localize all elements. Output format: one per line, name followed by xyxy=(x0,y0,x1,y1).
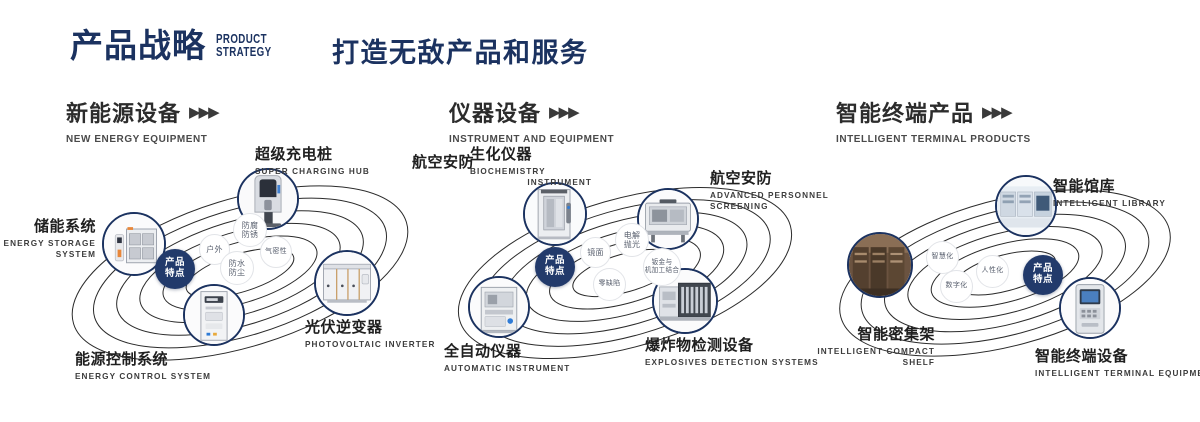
bubble-mirror-finish: 镜面 xyxy=(580,237,611,268)
product-strategy-infographic: 产品战略 PRODUCT STRATEGY 打造无敌产品和服务 新能源设备 ▶▶… xyxy=(0,0,1200,422)
smart-library-icon xyxy=(997,177,1055,235)
label-cn: 智能密集架 xyxy=(810,325,935,344)
bubble-core-features: 产品 特点 xyxy=(155,249,195,289)
section-title-en: NEW ENERGY EQUIPMENT xyxy=(66,133,210,145)
label-cn: 储能系统 xyxy=(0,217,96,236)
bubble-line2: 防尘 xyxy=(229,268,246,277)
node-biochemistry-instrument[interactable] xyxy=(523,182,587,246)
bubble-line1: 气密性 xyxy=(265,248,287,256)
bubble-line1: 户外 xyxy=(206,245,223,254)
bubble-line1: 零缺陷 xyxy=(599,280,621,288)
section-title-text: 智能终端产品 xyxy=(836,96,974,128)
label-en-1: INTELLIGENT TERMINAL EQUIPMENT xyxy=(1035,368,1200,379)
label-en-1: INTELLIGENT COMPACT xyxy=(810,346,935,357)
label-en-1: SUPER CHARGING HUB xyxy=(255,166,395,177)
bubble-intelligent: 智慧化 xyxy=(926,241,959,274)
label-super-charging-hub: 超级充电桩 SUPER CHARGING HUB xyxy=(255,145,395,177)
bubble-line2: 抛光 xyxy=(624,240,641,249)
bubble-digitalized: 数字化 xyxy=(940,270,973,303)
bubble-line1: 镜面 xyxy=(587,248,604,257)
bubble-line1: 电解 xyxy=(624,231,641,240)
bubble-line2: 防锈 xyxy=(242,230,259,239)
section-title-cn: 智能终端产品 ▶▶▶ xyxy=(836,96,1041,128)
label-cn: 超级充电桩 xyxy=(255,145,395,164)
label-cn: 生化仪器 xyxy=(470,145,610,164)
bubble-line1: 人性化 xyxy=(982,267,1004,275)
label-cn: 智能终端设备 xyxy=(1035,347,1200,366)
label-en-1: INTELLIGENT LIBRARY xyxy=(1053,198,1200,209)
section-heading-instrument: 仪器设备 ▶▶▶ INSTRUMENT AND EQUIPMENT xyxy=(449,96,623,145)
bubble-sheetmetal-machining: 钣金与 机加工结合 xyxy=(643,248,681,286)
label-cn: 能源控制系统 xyxy=(75,350,275,369)
label-intelligent-compact-shelf: 智能密集架 INTELLIGENT COMPACT SHELF xyxy=(810,325,935,368)
label-intelligent-library: 智能馆库 INTELLIGENT LIBRARY xyxy=(1053,177,1200,209)
biochemistry-analyzer-icon xyxy=(525,184,585,244)
page-header: 产品战略 PRODUCT STRATEGY xyxy=(70,26,287,66)
bubble-core-features: 产品 特点 xyxy=(535,247,575,287)
page-title-en-line2: STRATEGY xyxy=(216,46,271,59)
bubble-line2: 机加工结合 xyxy=(645,267,679,275)
cluster-new-energy-equipment: 储能系统 ENERGY STORAGE SYSTEM 超级充电桩 SUPER C… xyxy=(40,155,440,370)
node-intelligent-terminal-equipment[interactable] xyxy=(1059,277,1121,339)
bubble-zero-defect: 零缺陷 xyxy=(593,268,626,301)
bubble-waterproof-dustproof: 防水 防尘 xyxy=(220,251,254,285)
label-en-1: AUTOMATIC INSTRUMENT xyxy=(444,363,614,374)
bubble-line1: 防水 xyxy=(229,259,246,268)
bubble-line1: 智慧化 xyxy=(932,253,954,261)
bubble-line1: 数字化 xyxy=(946,282,968,290)
section-title-text: 仪器设备 xyxy=(449,96,541,128)
bubble-line2: 特点 xyxy=(165,269,185,280)
label-en-2: INSTRUMENT xyxy=(470,177,592,188)
label-biochemistry-instrument: 生化仪器 BIOCHEMISTRY INSTRUMENT xyxy=(470,145,610,188)
node-intelligent-compact-shelf[interactable] xyxy=(847,232,913,298)
page-title-en: PRODUCT STRATEGY xyxy=(216,33,271,59)
label-en-2: SHELF xyxy=(810,357,935,368)
node-photovoltaic-inverter[interactable] xyxy=(314,250,380,316)
terminal-kiosk-icon xyxy=(1061,279,1119,337)
section-title-text: 新能源设备 xyxy=(66,96,181,128)
label-en-1: ENERGY STORAGE xyxy=(0,238,96,249)
compact-shelf-icon xyxy=(849,234,911,296)
pv-inverter-icon xyxy=(316,252,378,314)
section-heading-new-energy: 新能源设备 ▶▶▶ NEW ENERGY EQUIPMENT xyxy=(66,96,218,145)
chevron-right-icon: ▶▶▶ xyxy=(189,103,218,121)
bubble-core-features: 产品 特点 xyxy=(1023,255,1063,295)
bubble-electrolytic-polishing: 电解 抛光 xyxy=(615,223,649,257)
chevron-right-icon: ▶▶▶ xyxy=(549,103,578,121)
bubble-line2: 特点 xyxy=(1033,275,1053,286)
label-energy-storage-system: 储能系统 ENERGY STORAGE SYSTEM xyxy=(0,217,96,260)
page-title-cn: 产品战略 xyxy=(70,26,206,66)
section-title-cn: 仪器设备 ▶▶▶ xyxy=(449,96,623,128)
label-intelligent-terminal-equipment: 智能终端设备 INTELLIGENT TERMINAL EQUIPMENT xyxy=(1035,347,1200,379)
bubble-line2: 特点 xyxy=(545,267,565,278)
bubble-humanized: 人性化 xyxy=(976,255,1009,288)
bubble-line1: 钣金与 xyxy=(652,259,673,267)
label-en-1: ENERGY CONTROL SYSTEM xyxy=(75,371,275,382)
label-energy-control-system: 能源控制系统 ENERGY CONTROL SYSTEM xyxy=(75,350,275,382)
label-automatic-instrument: 全自动仪器 AUTOMATIC INSTRUMENT xyxy=(444,342,614,374)
label-cn: 全自动仪器 xyxy=(444,342,614,361)
automatic-instrument-icon xyxy=(470,278,528,336)
section-title-en: INSTRUMENT AND EQUIPMENT xyxy=(449,133,614,145)
section-title-en: INTELLIGENT TERMINAL PRODUCTS xyxy=(836,133,1031,145)
label-en-1: BIOCHEMISTRY xyxy=(470,166,610,177)
bubble-airtightness: 气密性 xyxy=(260,236,292,268)
section-title-cn: 新能源设备 ▶▶▶ xyxy=(66,96,218,128)
section-heading-terminal: 智能终端产品 ▶▶▶ INTELLIGENT TERMINAL PRODUCTS xyxy=(836,96,1041,145)
node-intelligent-library[interactable] xyxy=(995,175,1057,237)
page-subtitle: 打造无敌产品和服务 xyxy=(332,31,589,70)
bubble-line1: 防腐 xyxy=(242,221,259,230)
cluster-instrument-and-equipment: 航空安防 生化仪器 BIOCHEMISTRY INSTRUMENT 航空安防 xyxy=(430,155,820,370)
node-automatic-instrument[interactable] xyxy=(468,276,530,338)
label-cn: 智能馆库 xyxy=(1053,177,1200,196)
cluster-intelligent-terminal-products: 智能馆库 INTELLIGENT LIBRARY 智能密集架 xyxy=(815,155,1200,370)
chevron-right-icon: ▶▶▶ xyxy=(982,103,1011,121)
node-energy-control-system[interactable] xyxy=(183,284,245,346)
label-en-2: SYSTEM xyxy=(0,249,96,260)
control-cabinet-icon xyxy=(185,286,243,344)
